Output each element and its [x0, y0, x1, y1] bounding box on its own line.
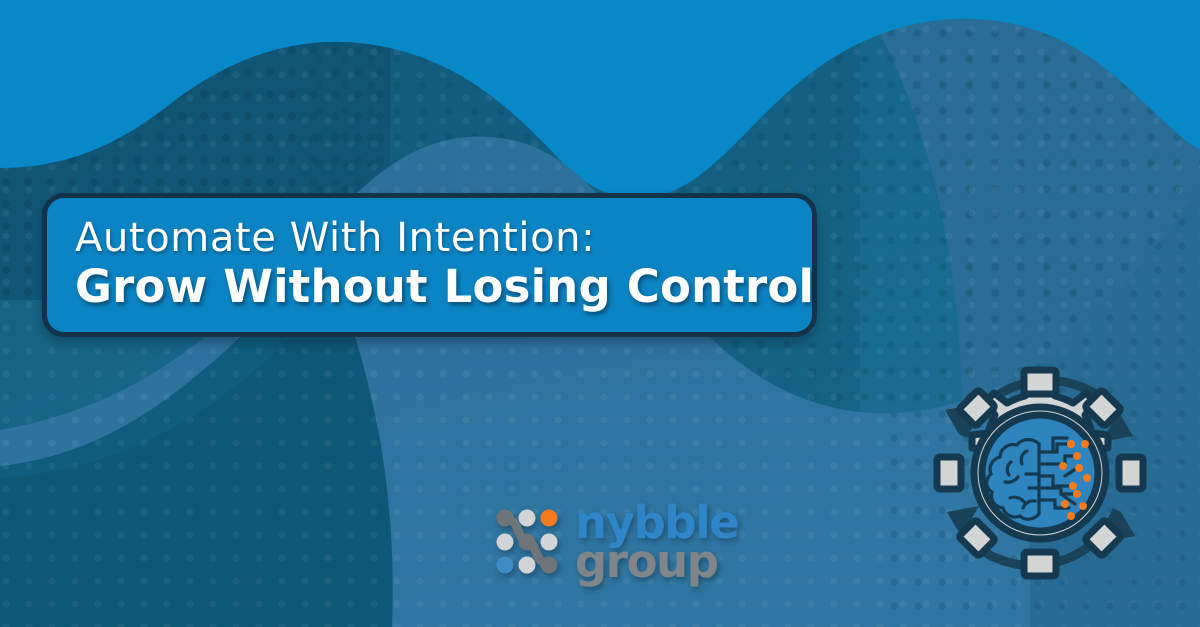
logo-dot-grid-icon	[495, 507, 559, 577]
logo-word-group: group	[575, 541, 738, 582]
logo-wordmark: nybble group	[575, 502, 738, 583]
promo-banner: Automate With Intention: Grow Without Lo…	[0, 0, 1200, 627]
nybble-group-logo: nybble group	[495, 497, 725, 587]
headline-main: Grow Without Losing Control	[75, 262, 812, 312]
automation-ai-gear-icon	[915, 348, 1165, 598]
title-card: Automate With Intention: Grow Without Lo…	[42, 193, 817, 337]
headline-eyebrow: Automate With Intention:	[75, 217, 812, 259]
